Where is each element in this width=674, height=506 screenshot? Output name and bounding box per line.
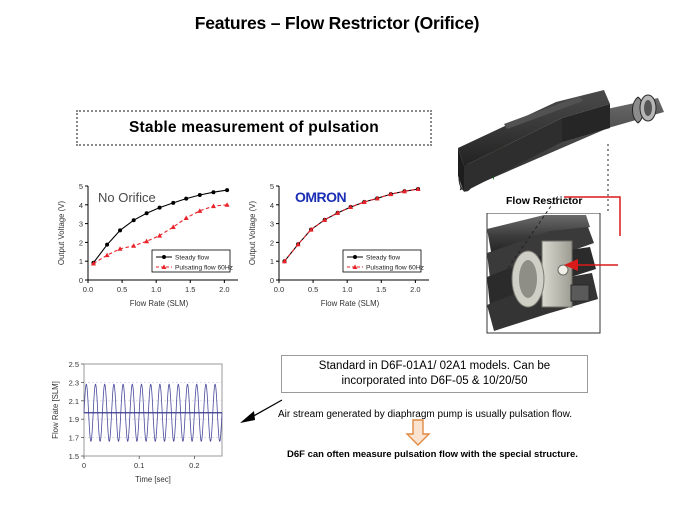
chart-pulsation-wave-svg: 1.51.71.92.12.32.500.10.2Time [sec]Flow … xyxy=(44,352,244,496)
slide-root: Features – Flow Restrictor (Orifice) Sta… xyxy=(0,0,674,506)
stable-measurement-callout: Stable measurement of pulsation xyxy=(76,110,432,146)
air-stream-note: Air stream generated by diaphragm pump i… xyxy=(278,409,572,420)
y-axis-label: Output Voltage (V) xyxy=(57,201,66,266)
product-image-sensor-assembly xyxy=(452,84,674,202)
down-arrow-icon xyxy=(403,419,433,447)
y-tick-label: 1.5 xyxy=(69,452,79,461)
y-tick-label: 5 xyxy=(79,182,83,191)
series-marker xyxy=(105,243,109,247)
x-tick-label: 1.5 xyxy=(185,285,195,294)
legend-marker xyxy=(353,255,357,259)
legend-label: Steady flow xyxy=(366,255,400,262)
series-marker xyxy=(132,218,136,222)
series-marker xyxy=(225,188,229,192)
series-marker xyxy=(158,206,162,210)
page-title: Features – Flow Restrictor (Orifice) xyxy=(0,13,674,34)
x-tick-label: 1.0 xyxy=(342,285,352,294)
chart-no-orifice-svg: 0123450.00.51.01.52.0Flow Rate (SLM)Outp… xyxy=(52,176,248,328)
series-marker xyxy=(144,239,149,244)
series-marker xyxy=(184,215,189,220)
y-axis-label: Output Voltage (V) xyxy=(248,201,257,266)
series-marker xyxy=(131,243,136,248)
legend-label: Pulsating flow 60Hz xyxy=(366,265,424,272)
y-tick-label: 3 xyxy=(270,220,274,229)
x-tick-label: 1.0 xyxy=(151,285,161,294)
series-marker xyxy=(171,201,175,205)
chart-with-orifice-svg: 0123450.00.51.01.52.0Flow Rate (SLM)Outp… xyxy=(243,176,439,328)
y-tick-label: 1.7 xyxy=(69,434,79,443)
x-tick-label: 2.0 xyxy=(410,285,420,294)
x-axis-label: Time [sec] xyxy=(135,475,171,484)
x-tick-label: 0.5 xyxy=(308,285,318,294)
series-marker xyxy=(145,211,149,215)
x-axis-label: Flow Rate (SLM) xyxy=(130,299,189,308)
series-marker xyxy=(105,253,110,258)
series-marker xyxy=(184,197,188,201)
y-tick-label: 0 xyxy=(79,276,83,285)
y-tick-label: 2 xyxy=(79,238,83,247)
chart-pulsation-wave: 1.51.71.92.12.32.500.10.2Time [sec]Flow … xyxy=(44,352,244,496)
x-tick-label: 0.1 xyxy=(134,461,144,470)
x-tick-label: 0.0 xyxy=(274,285,284,294)
standard-note-text: Standard in D6F-01A1/ 02A1 models. Can b… xyxy=(288,359,581,389)
standard-note-box: Standard in D6F-01A1/ 02A1 models. Can b… xyxy=(281,355,588,393)
series-marker xyxy=(171,224,176,229)
x-tick-label: 2.0 xyxy=(219,285,229,294)
series-marker xyxy=(118,228,122,232)
series-marker xyxy=(157,233,162,238)
y-tick-label: 5 xyxy=(270,182,274,191)
y-tick-label: 2.3 xyxy=(69,378,79,387)
conclusion-note: D6F can often measure pulsation flow wit… xyxy=(287,449,578,460)
chart-inner-title: No Orifice xyxy=(98,190,156,205)
legend-marker xyxy=(162,255,166,259)
y-tick-label: 2.1 xyxy=(69,397,79,406)
x-tick-label: 0 xyxy=(82,461,86,470)
y-tick-label: 4 xyxy=(79,201,83,210)
legend-label: Steady flow xyxy=(175,255,209,262)
omron-logo: OMRON xyxy=(295,189,347,205)
y-axis-label: Flow Rate [SLM] xyxy=(51,381,60,439)
y-tick-label: 1.9 xyxy=(69,415,79,424)
chart-no-orifice: 0123450.00.51.01.52.0Flow Rate (SLM)Outp… xyxy=(52,176,248,328)
x-tick-label: 0.0 xyxy=(83,285,93,294)
series-marker xyxy=(198,193,202,197)
legend-label: Pulsating flow 60Hz xyxy=(175,265,233,272)
x-tick-label: 0.2 xyxy=(189,461,199,470)
series-marker xyxy=(211,204,216,209)
y-tick-label: 4 xyxy=(270,201,274,210)
product-image-cross-section xyxy=(458,213,674,335)
x-tick-label: 1.5 xyxy=(376,285,386,294)
flow-restrictor-label: Flow Restrictor xyxy=(505,195,583,207)
y-tick-label: 2 xyxy=(270,238,274,247)
y-tick-label: 1 xyxy=(270,257,274,266)
sensor-housing xyxy=(458,90,610,192)
x-tick-label: 0.5 xyxy=(117,285,127,294)
y-tick-label: 2.5 xyxy=(69,360,79,369)
y-tick-label: 1 xyxy=(79,257,83,266)
x-axis-label: Flow Rate (SLM) xyxy=(321,299,380,308)
stable-measurement-label: Stable measurement of pulsation xyxy=(129,119,379,137)
y-tick-label: 0 xyxy=(270,276,274,285)
series-marker xyxy=(211,190,215,194)
chart-with-orifice: 0123450.00.51.01.52.0Flow Rate (SLM)Outp… xyxy=(243,176,439,328)
y-tick-label: 3 xyxy=(79,220,83,229)
